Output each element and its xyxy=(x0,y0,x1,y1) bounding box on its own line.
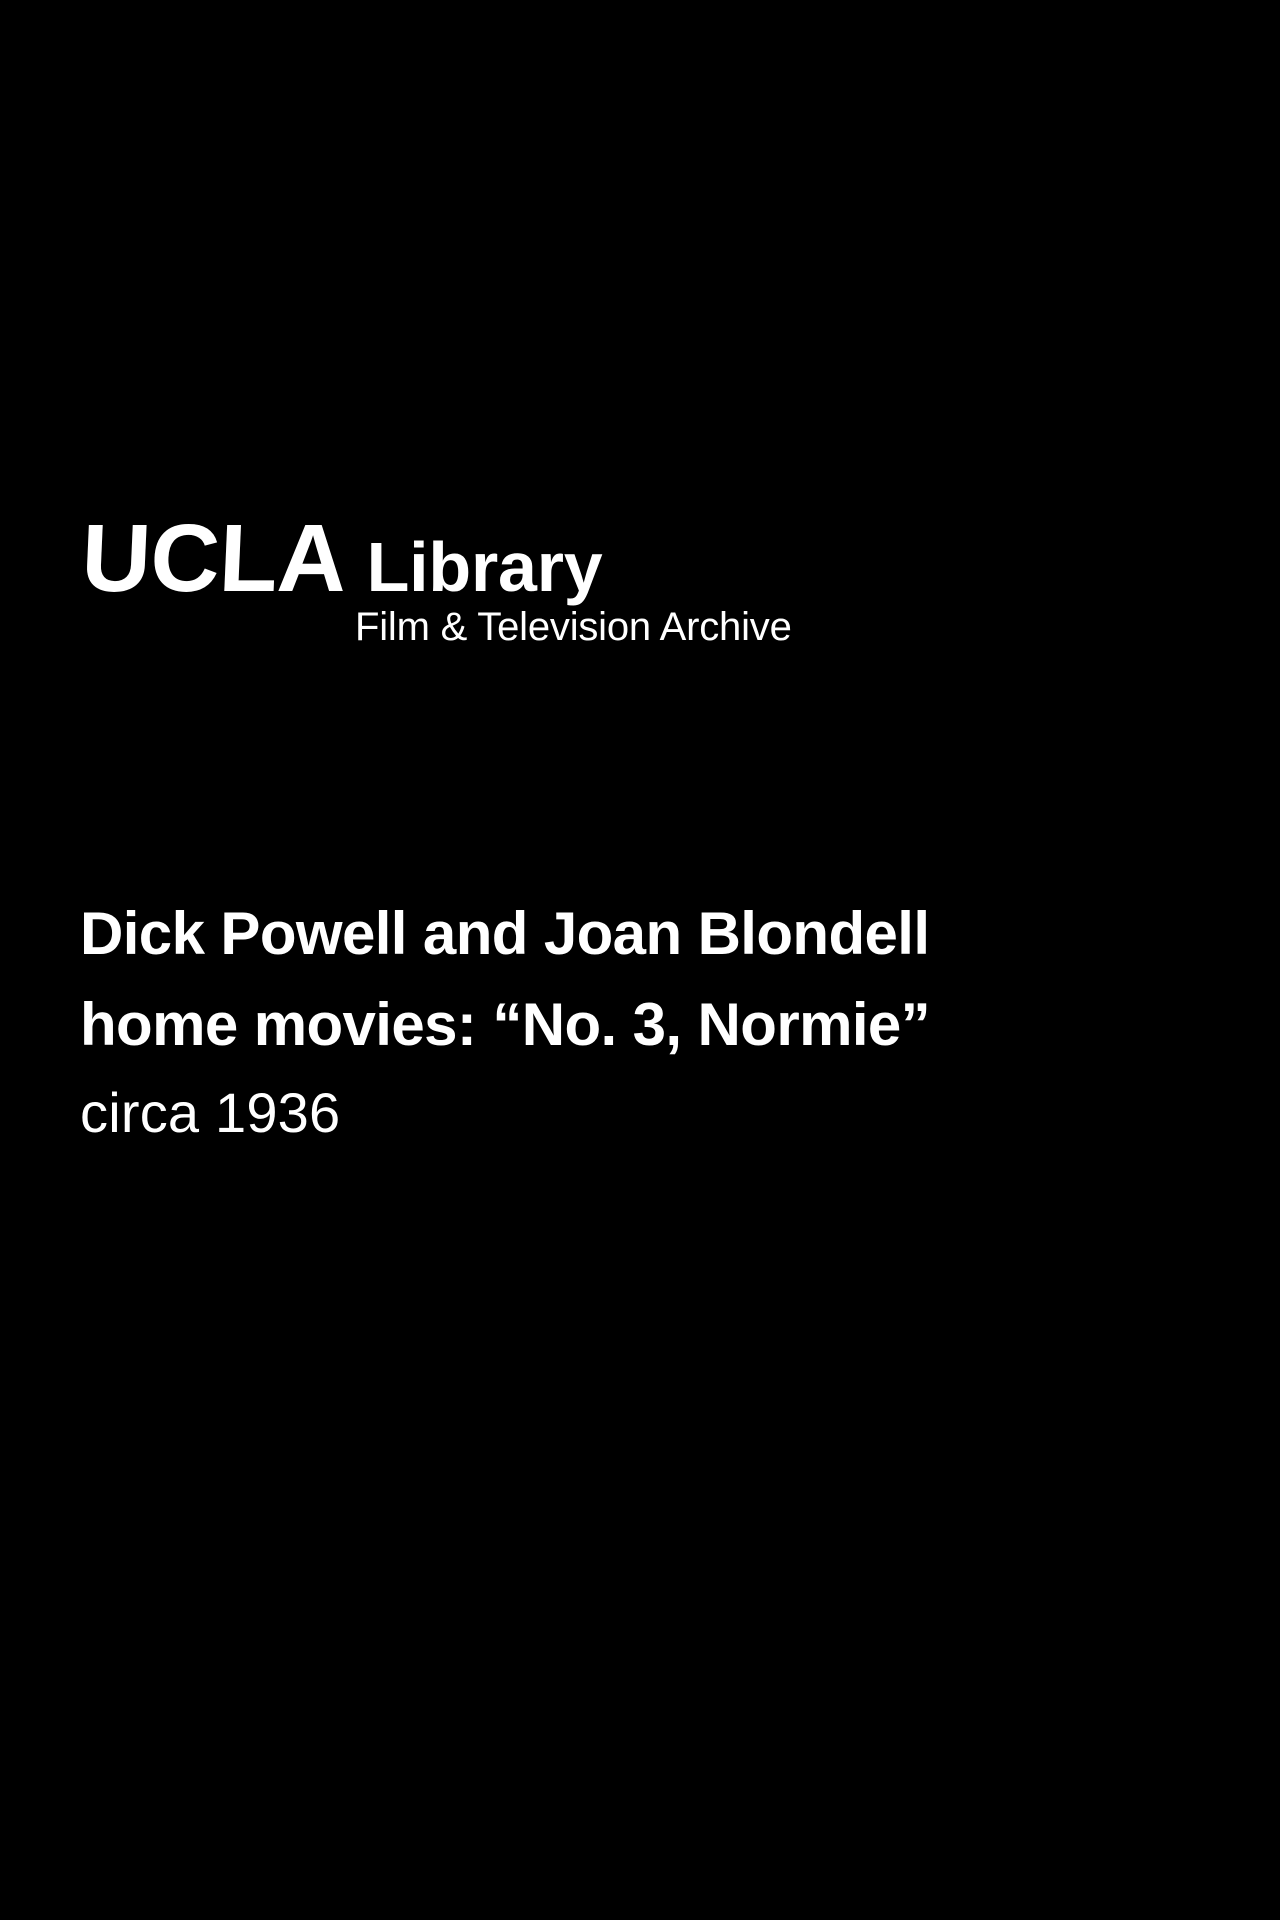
film-title-block: Dick Powell and Joan Blondell home movie… xyxy=(80,888,1200,1157)
film-title-line-2: home movies: “No. 3, Normie” xyxy=(80,979,1200,1070)
ucla-wordmark: UCLA xyxy=(80,522,348,597)
archive-logo-lockup: UCLA Library Film & Television Archive xyxy=(80,522,840,647)
film-title-line-1: Dick Powell and Joan Blondell xyxy=(80,888,1200,979)
film-date: circa 1936 xyxy=(80,1070,1200,1157)
logo-primary-row: UCLA Library xyxy=(80,522,840,597)
film-television-archive-subunit: Film & Television Archive xyxy=(355,607,840,647)
title-card-frame: UCLA Library Film & Television Archive D… xyxy=(0,0,1280,1920)
library-wordmark: Library xyxy=(367,540,603,595)
